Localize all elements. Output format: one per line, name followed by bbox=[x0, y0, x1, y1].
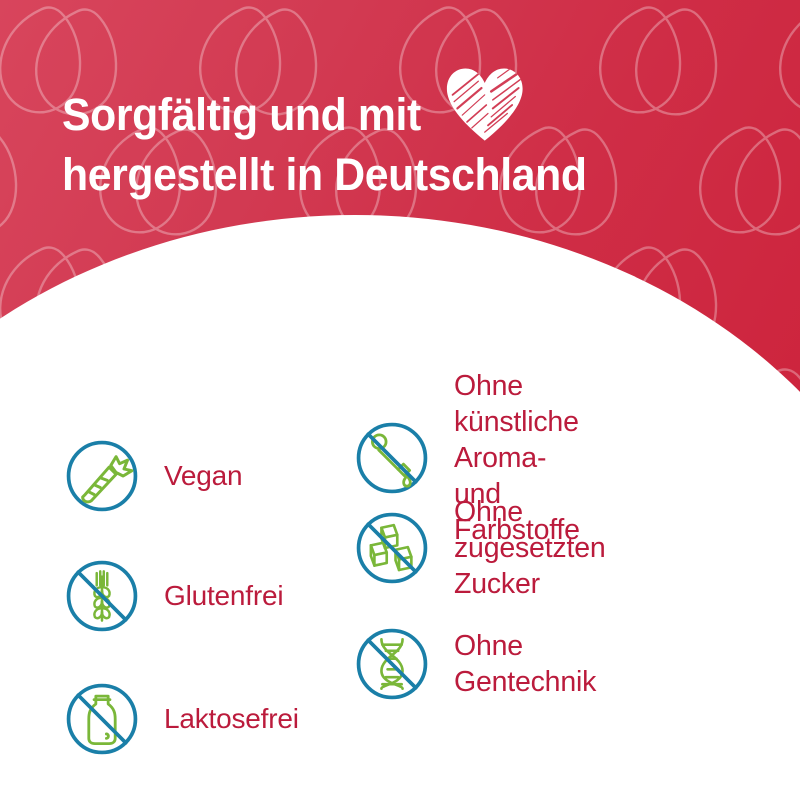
headline-line-1: Sorgfältig und mit bbox=[62, 66, 727, 145]
dna-helix-icon bbox=[348, 620, 436, 708]
hand-drawn-heart-icon bbox=[444, 66, 526, 144]
badge-glutenfrei: Glutenfrei bbox=[58, 552, 283, 640]
badge-label-vegan: Vegan bbox=[164, 458, 242, 494]
carrot-icon bbox=[58, 432, 146, 520]
headline-text-2: hergestellt in Deutschland bbox=[62, 149, 587, 200]
badge-ohne-gentechnik: Ohne Gentechnik bbox=[348, 620, 596, 708]
badge-vegan: Vegan bbox=[58, 432, 242, 520]
poster-root: Sorgfältig und mit bbox=[0, 0, 800, 800]
badge-label-ohne-gentechnik: Ohne Gentechnik bbox=[454, 628, 596, 700]
wheat-stalk-icon bbox=[58, 552, 146, 640]
badge-label-ohne-zugesetzten-zucker: Ohne zugesetzten Zucker bbox=[454, 494, 606, 602]
headline-text-1: Sorgfältig und mit bbox=[62, 89, 421, 140]
dropper-pipette-icon bbox=[348, 414, 436, 502]
sugar-cubes-icon bbox=[348, 504, 436, 592]
milk-bottle-icon bbox=[58, 675, 146, 763]
headline-line-2: hergestellt in Deutschland bbox=[62, 145, 727, 205]
badge-ohne-zugesetzten-zucker: Ohne zugesetzten Zucker bbox=[348, 494, 606, 602]
page-title: Sorgfältig und mit bbox=[62, 66, 727, 205]
badge-label-laktosefrei: Laktosefrei bbox=[164, 701, 299, 737]
badge-laktosefrei: Laktosefrei bbox=[58, 675, 299, 763]
badge-label-glutenfrei: Glutenfrei bbox=[164, 578, 283, 614]
